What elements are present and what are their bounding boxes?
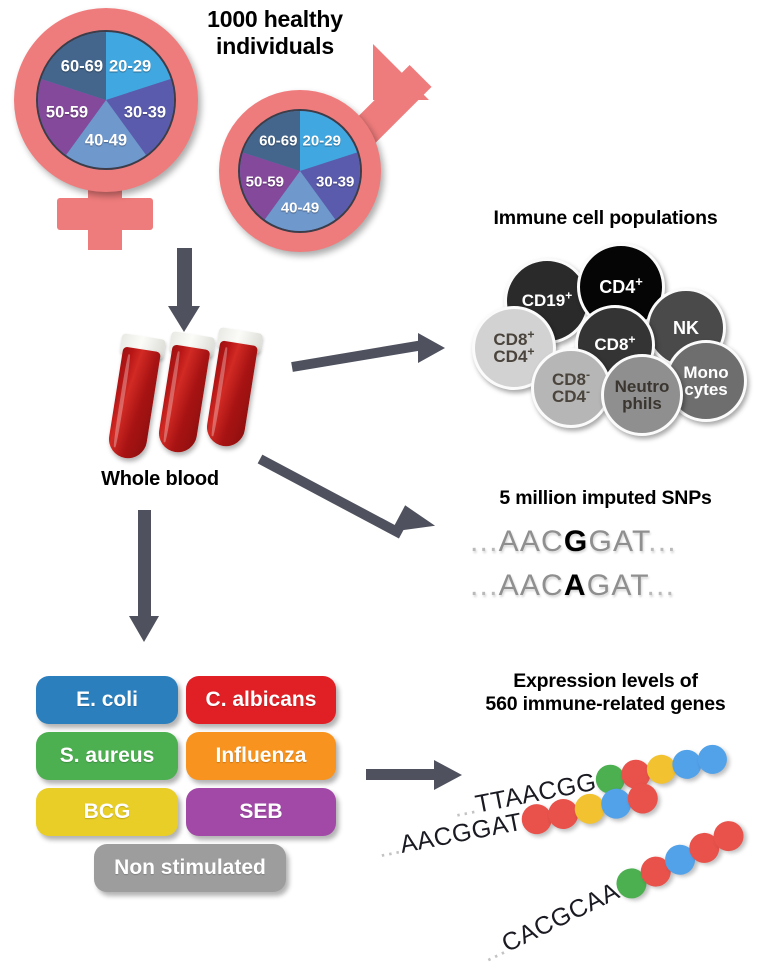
male-arrow-head: [373, 44, 429, 100]
female-gender-symbol: 20-2930-3940-4950-5960-69: [0, 0, 210, 260]
pie-label-40-49: 40-49: [281, 200, 319, 217]
gene-strand: ...CACGCAA: [611, 806, 768, 903]
immune-cell-label: NK: [673, 319, 699, 337]
immune-cell-label: CD19+: [522, 292, 573, 309]
pie-label-50-59: 50-59: [46, 103, 88, 122]
stimulus-e-coli[interactable]: E. coli: [36, 676, 178, 724]
expression-levels-title: Expression levels of560 immune-related g…: [440, 670, 771, 715]
age-distribution-pie-male: 20-2930-3940-4950-5960-69: [238, 109, 362, 233]
gene-expression-dot: [695, 742, 729, 776]
whole-blood-label: Whole blood: [60, 468, 260, 491]
gene-strand-sequence: ...AACGGAT: [376, 808, 525, 864]
pie-label-30-39: 30-39: [316, 174, 354, 191]
snps-title: 5 million imputed SNPs: [440, 487, 771, 510]
immune-cell-cd4-positive: CD4+: [577, 243, 665, 331]
immune-cell-neutrophils: Neutrophils: [601, 354, 683, 436]
immune-cell-label: CD8-CD4-: [552, 371, 590, 406]
male-gender-symbol: 20-2930-3940-4950-5960-69: [205, 40, 430, 260]
stimulus-influenza[interactable]: Influenza: [186, 732, 336, 780]
pie-label-30-39: 30-39: [124, 103, 166, 122]
pie-label-50-59: 50-59: [246, 174, 284, 191]
pie-label-60-69: 60-69: [61, 57, 103, 76]
stimulus-label: SEB: [239, 800, 282, 824]
immune-cell-nk-cells: NK: [646, 288, 726, 368]
pie-label-20-29: 20-29: [303, 133, 341, 150]
immune-cell-label: CD8+CD4+: [493, 331, 534, 366]
stimulus-s-aureus[interactable]: S. aureus: [36, 732, 178, 780]
stimulus-label: Non stimulated: [114, 856, 266, 880]
pie-label-60-69: 60-69: [259, 133, 297, 150]
arrow-blood-to-snps: [260, 450, 450, 560]
immune-cell-populations-title: Immune cell populations: [440, 207, 771, 230]
arrow-blood-to-stimuli: [128, 510, 172, 650]
female-stem-horizontal: [57, 198, 153, 230]
stimulus-non-stimulated[interactable]: Non stimulated: [94, 844, 286, 892]
immune-cell-monocytes: Monocytes: [665, 340, 747, 422]
snp-sequence-row: ...AACGGAT...: [470, 525, 677, 559]
blood-tube: [204, 340, 258, 449]
stimulus-label: Influenza: [215, 744, 306, 768]
stimulus-label: BCG: [84, 800, 131, 824]
stimulus-label: S. aureus: [60, 744, 155, 768]
gene-expression-strands: ...TTAACGG...AACGGAT...CACGCAA: [450, 735, 771, 915]
stimulus-label: C. albicans: [206, 688, 317, 712]
gene-expression-dot: [625, 781, 660, 816]
arrow-blood-to-immune-cells: [292, 330, 460, 380]
immune-cell-label: CD8+: [594, 336, 635, 353]
whole-blood-tubes: [100, 338, 270, 458]
stimuli-grid: E. coliC. albicansS. aureusInfluenzaBCGS…: [36, 676, 336, 896]
immune-cell-cd8-cd4-double-positive: CD8+CD4+: [472, 306, 556, 390]
snp-sequence-row: ...AACAGAT...: [470, 569, 675, 603]
snp-sequence-block: ...AACGGAT......AACAGAT...: [470, 525, 760, 615]
pie-label-40-49: 40-49: [85, 132, 127, 151]
age-distribution-pie-female: 20-2930-3940-4950-5960-69: [36, 30, 176, 170]
blood-tube: [156, 344, 210, 455]
stimulus-label: E. coli: [76, 688, 138, 712]
gene-strand-sequence: ...CACGCAA: [477, 877, 624, 969]
immune-cell-label: Monocytes: [683, 364, 728, 399]
stimulus-bcg[interactable]: BCG: [36, 788, 178, 836]
immune-cell-label: CD4+: [599, 278, 643, 296]
stimulus-c-albicans[interactable]: C. albicans: [186, 676, 336, 724]
stimulus-seb[interactable]: SEB: [186, 788, 336, 836]
blood-tube: [106, 346, 161, 461]
immune-cell-label: Neutrophils: [615, 378, 670, 413]
pie-label-20-29: 20-29: [109, 57, 151, 76]
immune-cell-cd8-cd4-double-negative: CD8-CD4-: [531, 348, 611, 428]
immune-cell-cd19-positive: CD19+: [504, 258, 590, 344]
arrow-cohort-to-blood: [168, 248, 208, 332]
immune-cell-cd8-positive: CD8+: [575, 305, 655, 385]
